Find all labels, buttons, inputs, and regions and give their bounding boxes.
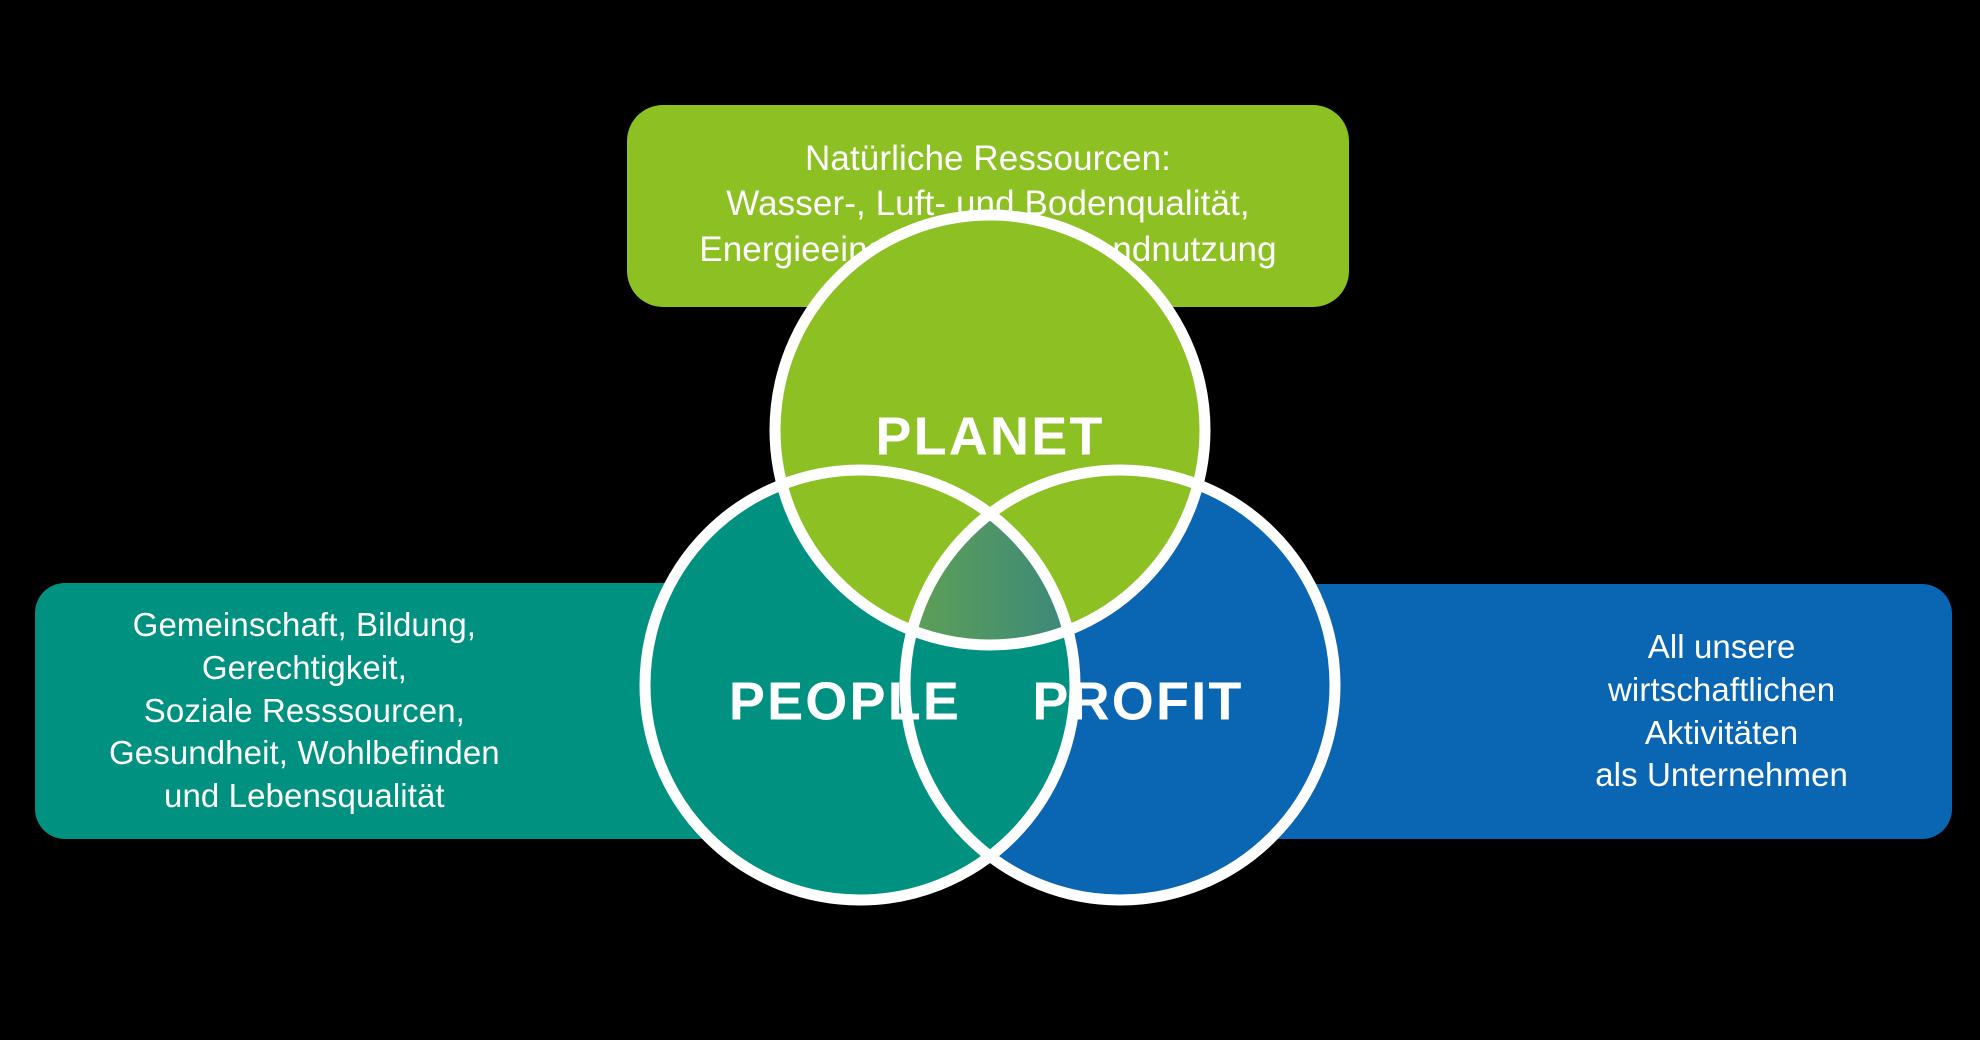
circle-planet-fill[interactable] bbox=[775, 215, 1205, 645]
diagram-canvas: Natürliche Ressourcen: Wasser-, Luft- un… bbox=[0, 0, 1980, 1040]
